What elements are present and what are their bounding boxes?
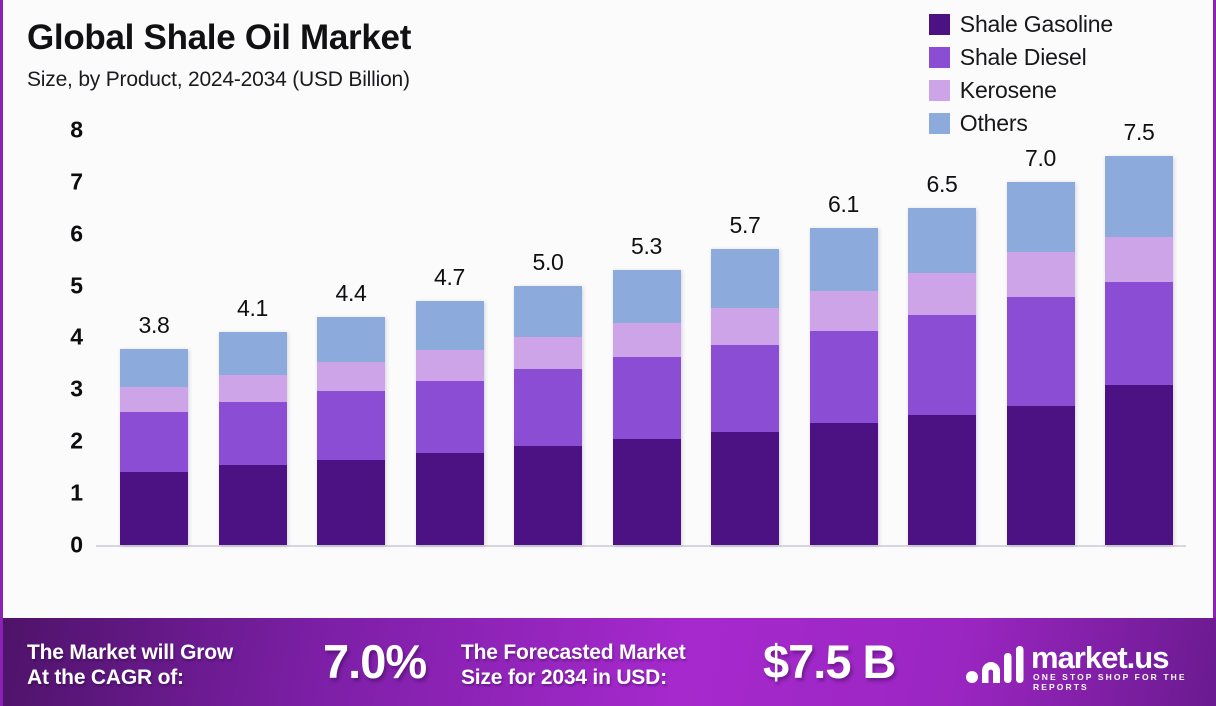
bar-segment-kerosene[interactable] xyxy=(810,291,878,330)
bar-segment-shale-diesel[interactable] xyxy=(317,391,385,460)
bar-data-label: 5.0 xyxy=(494,249,602,276)
bar-segment-shale-diesel[interactable] xyxy=(219,402,287,465)
bar-segment-others[interactable] xyxy=(1007,182,1075,253)
bar-segment-kerosene[interactable] xyxy=(1007,252,1075,297)
y-axis-tick-2: 2 xyxy=(45,428,83,455)
legend-item-label: Shale Gasoline xyxy=(960,11,1113,38)
legend-swatch-icon xyxy=(929,47,950,68)
stacked-bar[interactable] xyxy=(317,317,385,545)
bar-segment-shale-gasoline[interactable] xyxy=(120,472,188,545)
bar-segment-others[interactable] xyxy=(711,249,779,308)
bar-segment-shale-gasoline[interactable] xyxy=(810,423,878,545)
chart-plot-area: 012345678 3.820244.120254.420264.720275.… xyxy=(3,118,1216,605)
bar-data-label: 3.8 xyxy=(100,312,208,339)
bar-data-label: 4.4 xyxy=(297,280,405,307)
legend-item-shale-diesel[interactable]: Shale Diesel xyxy=(929,41,1113,74)
bar-segment-shale-diesel[interactable] xyxy=(908,315,976,415)
bar-segment-shale-gasoline[interactable] xyxy=(219,465,287,545)
footer-banner: The Market will GrowAt the CAGR of: 7.0%… xyxy=(3,618,1216,706)
bar-data-label: 7.5 xyxy=(1085,119,1193,146)
bar-segment-others[interactable] xyxy=(1105,156,1173,237)
stacked-bar[interactable] xyxy=(1105,156,1173,545)
bar-segment-kerosene[interactable] xyxy=(613,323,681,357)
bar-segment-kerosene[interactable] xyxy=(120,387,188,412)
bar-segment-shale-diesel[interactable] xyxy=(613,357,681,439)
bar-segment-shale-diesel[interactable] xyxy=(1007,297,1075,406)
bar-segment-kerosene[interactable] xyxy=(1105,237,1173,282)
bar-segment-others[interactable] xyxy=(416,301,484,350)
chart-header: Global Shale Oil Market Size, by Product… xyxy=(3,0,1216,118)
bar-data-label: 5.7 xyxy=(691,212,799,239)
y-axis-tick-3: 3 xyxy=(45,376,83,403)
bar-segment-shale-gasoline[interactable] xyxy=(317,460,385,545)
legend-item-shale-gasoline[interactable]: Shale Gasoline xyxy=(929,8,1113,41)
bar-data-label: 4.1 xyxy=(199,295,307,322)
bar-segment-others[interactable] xyxy=(810,228,878,291)
page-title: Global Shale Oil Market xyxy=(27,18,411,58)
bar-data-label: 4.7 xyxy=(396,264,504,291)
bar-segment-others[interactable] xyxy=(120,349,188,387)
logo-tagline: ONE STOP SHOP FOR THE REPORTS xyxy=(1033,672,1197,692)
bar-segment-others[interactable] xyxy=(514,286,582,337)
cagr-label: The Market will GrowAt the CAGR of: xyxy=(27,640,233,690)
bar-segment-others[interactable] xyxy=(219,332,287,375)
bar-segment-kerosene[interactable] xyxy=(908,273,976,315)
y-axis-tick-5: 5 xyxy=(45,272,83,299)
bar-segment-kerosene[interactable] xyxy=(416,350,484,381)
legend-swatch-icon xyxy=(929,80,950,101)
page-subtitle: Size, by Product, 2024-2034 (USD Billion… xyxy=(27,68,410,92)
bar-segment-shale-gasoline[interactable] xyxy=(1105,385,1173,545)
bar-data-label: 5.3 xyxy=(593,233,701,260)
infographic-root: Global Shale Oil Market Size, by Product… xyxy=(0,0,1216,706)
bar-data-label: 7.0 xyxy=(987,145,1095,172)
stacked-bar[interactable] xyxy=(908,208,976,545)
legend-item-kerosene[interactable]: Kerosene xyxy=(929,74,1113,107)
bar-group: 3.820244.120254.420264.720275.020285.320… xyxy=(96,118,1186,605)
stacked-bar[interactable] xyxy=(810,228,878,545)
bar-segment-shale-diesel[interactable] xyxy=(416,381,484,453)
bar-segment-kerosene[interactable] xyxy=(317,362,385,391)
bar-segment-shale-diesel[interactable] xyxy=(711,345,779,432)
bar-segment-shale-diesel[interactable] xyxy=(810,331,878,423)
stacked-bar[interactable] xyxy=(416,301,484,545)
y-axis-tick-0: 0 xyxy=(45,532,83,559)
stacked-bar[interactable] xyxy=(711,249,779,545)
bar-segment-others[interactable] xyxy=(908,208,976,273)
forecast-size-value: $7.5 B xyxy=(763,638,895,686)
bar-segment-shale-gasoline[interactable] xyxy=(908,415,976,545)
y-axis-tick-4: 4 xyxy=(45,324,83,351)
market-us-logo[interactable]: market.us ONE STOP SHOP FOR THE REPORTS xyxy=(965,642,1197,686)
logo-wordmark: market.us xyxy=(1031,640,1168,676)
y-axis-tick-1: 1 xyxy=(45,480,83,507)
bar-segment-shale-diesel[interactable] xyxy=(1105,282,1173,385)
stacked-bar[interactable] xyxy=(514,286,582,545)
cagr-value: 7.0% xyxy=(323,638,426,686)
bar-segment-shale-gasoline[interactable] xyxy=(416,453,484,545)
stacked-bar[interactable] xyxy=(1007,182,1075,545)
bar-segment-shale-diesel[interactable] xyxy=(120,412,188,472)
bar-segment-others[interactable] xyxy=(613,270,681,323)
bar-segment-shale-gasoline[interactable] xyxy=(1007,406,1075,545)
bar-segment-shale-gasoline[interactable] xyxy=(711,432,779,545)
bar-segment-kerosene[interactable] xyxy=(514,337,582,369)
legend-item-label: Kerosene xyxy=(960,77,1057,104)
bar-data-label: 6.1 xyxy=(790,191,898,218)
y-axis-tick-7: 7 xyxy=(45,168,83,195)
legend-item-label: Shale Diesel xyxy=(960,44,1087,71)
bar-segment-kerosene[interactable] xyxy=(711,308,779,345)
forecast-size-label: The Forecasted MarketSize for 2034 in US… xyxy=(461,640,686,690)
legend-swatch-icon xyxy=(929,14,950,35)
stacked-bar[interactable] xyxy=(613,270,681,545)
bar-data-label: 6.5 xyxy=(888,171,996,198)
y-axis: 012345678 xyxy=(43,118,83,605)
stacked-bar[interactable] xyxy=(219,332,287,545)
logo-mark-icon xyxy=(965,644,1027,689)
y-axis-tick-8: 8 xyxy=(45,116,83,143)
bar-segment-others[interactable] xyxy=(317,317,385,363)
stacked-bar[interactable] xyxy=(120,349,188,545)
y-axis-tick-6: 6 xyxy=(45,220,83,247)
bar-segment-kerosene[interactable] xyxy=(219,375,287,402)
bar-segment-shale-gasoline[interactable] xyxy=(613,439,681,545)
bar-segment-shale-diesel[interactable] xyxy=(514,369,582,446)
bar-segment-shale-gasoline[interactable] xyxy=(514,446,582,545)
